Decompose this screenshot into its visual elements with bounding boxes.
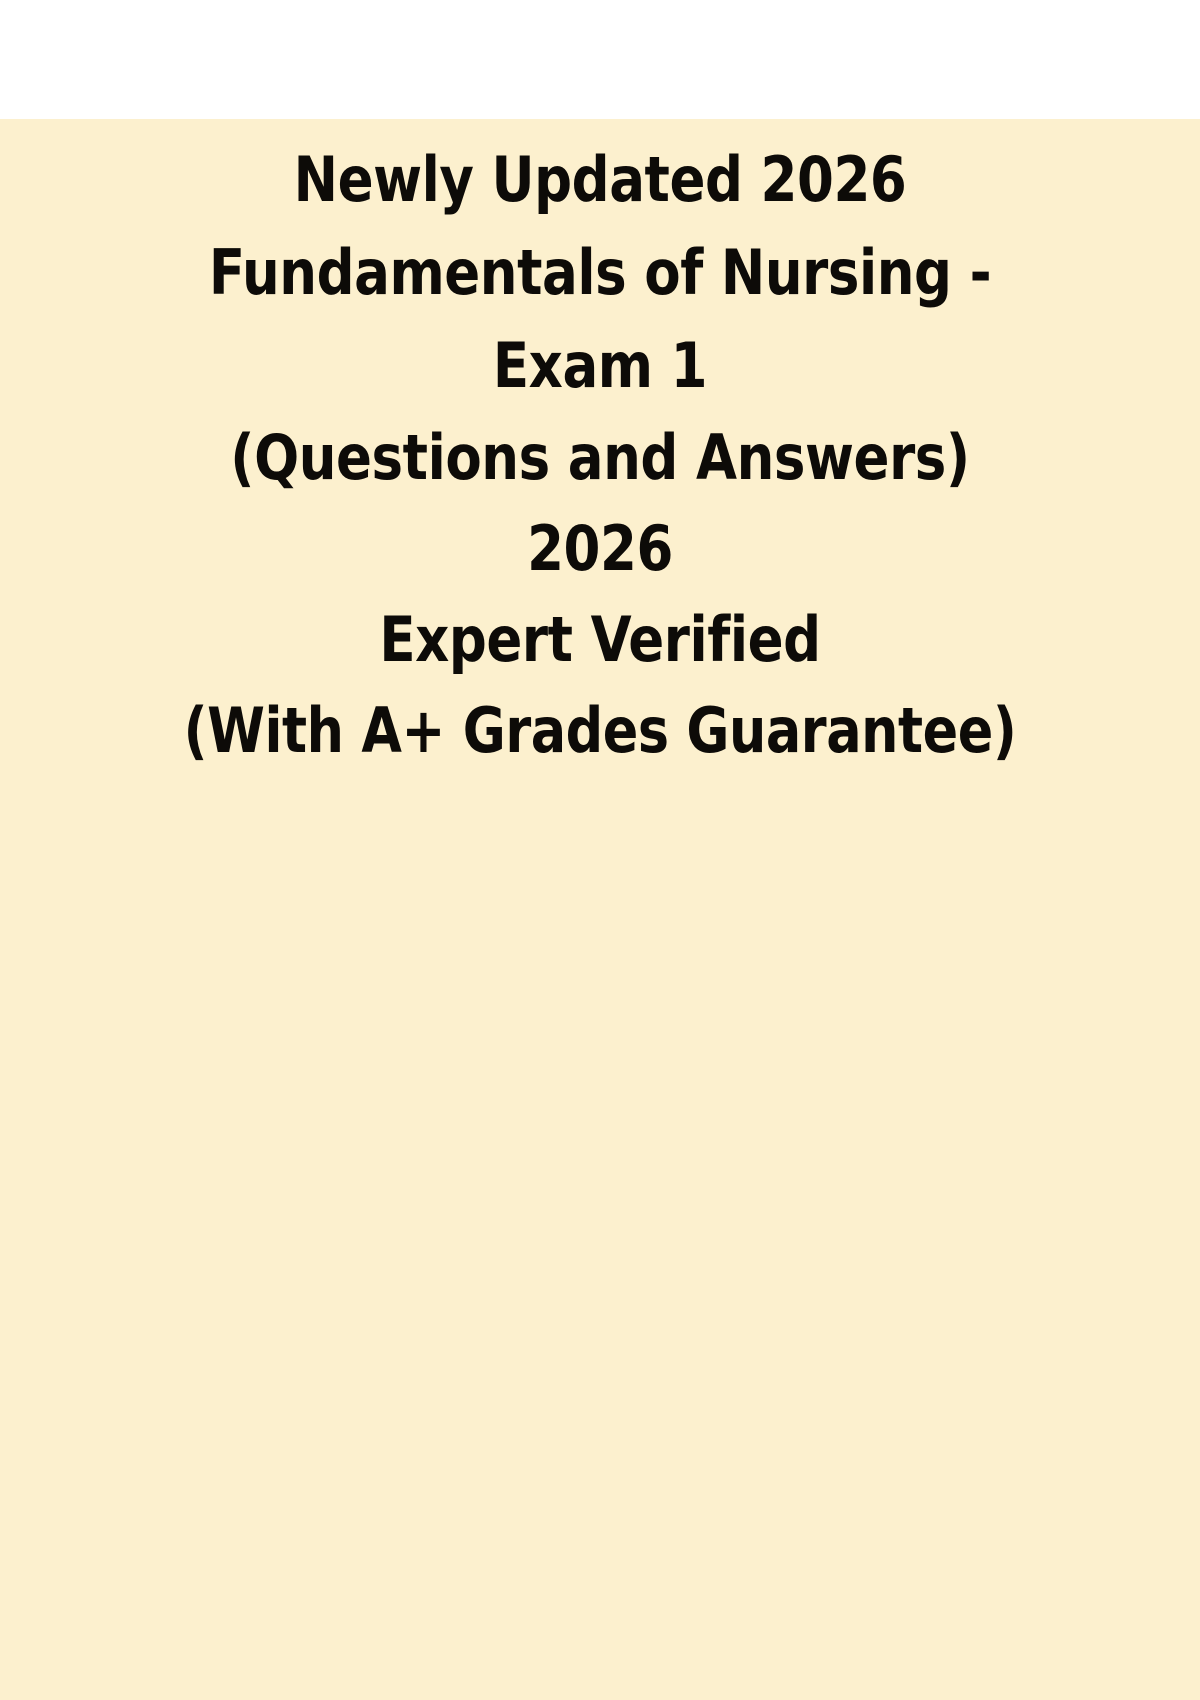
subtitle-line-expert-verified: Expert Verified [87,594,1113,685]
title-line-1: Newly Updated 2026 [87,133,1113,226]
page-title: Newly Updated 2026 Fundamentals of Nursi… [0,119,1200,776]
paper-sheet: Newly Updated 2026 Fundamentals of Nursi… [0,119,1200,1700]
title-subtitle-group: (Questions and Answers) 2026 Expert Veri… [0,412,1200,776]
title-line-2: Fundamentals of Nursing - [87,226,1113,319]
subtitle-line-year: 2026 [87,503,1113,594]
document-page: Newly Updated 2026 Fundamentals of Nursi… [0,0,1200,1700]
page-top-margin [0,0,1200,119]
subtitle-line-grades-guarantee: (With A+ Grades Guarantee) [93,685,1107,776]
title-headline-group: Newly Updated 2026 Fundamentals of Nursi… [0,133,1200,412]
title-line-3: Exam 1 [87,319,1113,412]
subtitle-line-questions-and-answers: (Questions and Answers) [87,412,1113,503]
